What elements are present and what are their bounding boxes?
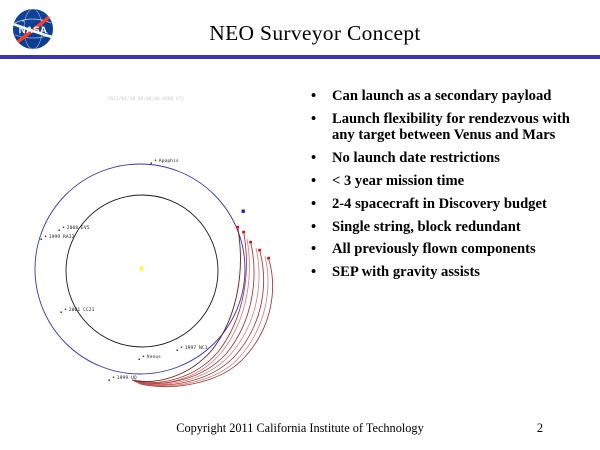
orbit-label-1997-nc1: 1997 NC1 xyxy=(180,345,208,351)
slide: NASA NEO Surveyor Concept 2011/02/10 00:… xyxy=(0,0,600,450)
orbit-label-apophis: Apophis xyxy=(154,158,179,164)
bullet-marker: • xyxy=(311,219,316,235)
bullet-text: SEP with gravity assists xyxy=(332,264,480,280)
bullet-text: < 3 year mission time xyxy=(332,173,464,189)
orbit-label-1999-uq: 1999 UQ xyxy=(112,375,137,381)
bullet-text: 2-4 spacecraft in Discovery budget xyxy=(332,196,547,212)
trajectory-endpoint-marker xyxy=(258,249,261,252)
bullet-text: Launch flexibility for rendezvous with a… xyxy=(332,111,570,143)
bullet-marker: • xyxy=(311,111,316,127)
bullet-item: • SEP with gravity assists xyxy=(308,264,588,280)
earth-position-marker xyxy=(242,210,245,213)
trajectory-endpoint-marker xyxy=(236,226,239,229)
svg-text:NASA: NASA xyxy=(19,25,48,36)
bullet-item: • No launch date restrictions xyxy=(308,150,588,166)
sun-marker xyxy=(140,267,143,271)
bullet-marker: • xyxy=(311,150,316,166)
venus-orbit-path xyxy=(66,195,218,347)
footer-page-number: 2 xyxy=(528,421,552,436)
page-title: NEO Surveyor Concept xyxy=(80,21,550,46)
sep-trajectory-group xyxy=(134,234,273,387)
bullet-text: Can launch as a secondary payload xyxy=(332,88,551,104)
bullet-marker: • xyxy=(311,241,316,257)
slide-header: NASA NEO Surveyor Concept xyxy=(0,0,600,58)
bullet-item: • Single string, block redundant xyxy=(308,219,588,235)
trajectory-endpoint-marker xyxy=(249,241,252,244)
bullet-item: • < 3 year mission time xyxy=(308,173,588,189)
nasa-logo-icon: NASA xyxy=(9,7,61,51)
orbit-label-1999-ra32: 1999 RA32 xyxy=(44,234,75,240)
trajectory-endpoint-marker xyxy=(242,231,245,234)
orbit-label-2001-cc21: 2001 CC21 xyxy=(64,307,95,313)
orbit-label-venus: Venus xyxy=(142,354,161,360)
orbital-trajectory-diagram: 2011/02/10 00:00:00.0000 UTC xyxy=(22,84,297,394)
orbit-label-2008-ev5: 2008 EV5 xyxy=(62,225,90,231)
bullet-item: • 2-4 spacecraft in Discovery budget xyxy=(308,196,588,212)
header-divider-gap xyxy=(0,59,600,60)
bullet-text: Single string, block redundant xyxy=(332,219,521,235)
orbit-label-ticks xyxy=(41,163,178,381)
bullet-marker: • xyxy=(311,173,316,189)
bullet-item: • Launch flexibility for rendezvous with… xyxy=(308,111,588,144)
bullet-item: • Can launch as a secondary payload xyxy=(308,88,588,104)
bullet-text: All previously flown components xyxy=(332,241,536,257)
bullet-marker: • xyxy=(311,88,316,104)
bullet-text: No launch date restrictions xyxy=(332,150,500,166)
bullet-marker: • xyxy=(311,196,316,212)
diagram-timestamp: 2011/02/10 00:00:00.0000 UTC xyxy=(108,96,184,101)
trajectory-endpoint-marker xyxy=(267,257,270,260)
bullet-marker: • xyxy=(311,264,316,280)
earth-orbit-path xyxy=(35,164,245,374)
bullet-item: • All previously flown components xyxy=(308,241,588,257)
bullet-list: • Can launch as a secondary payload • La… xyxy=(308,88,588,287)
footer-copyright: Copyright 2011 California Institute of T… xyxy=(0,421,600,436)
